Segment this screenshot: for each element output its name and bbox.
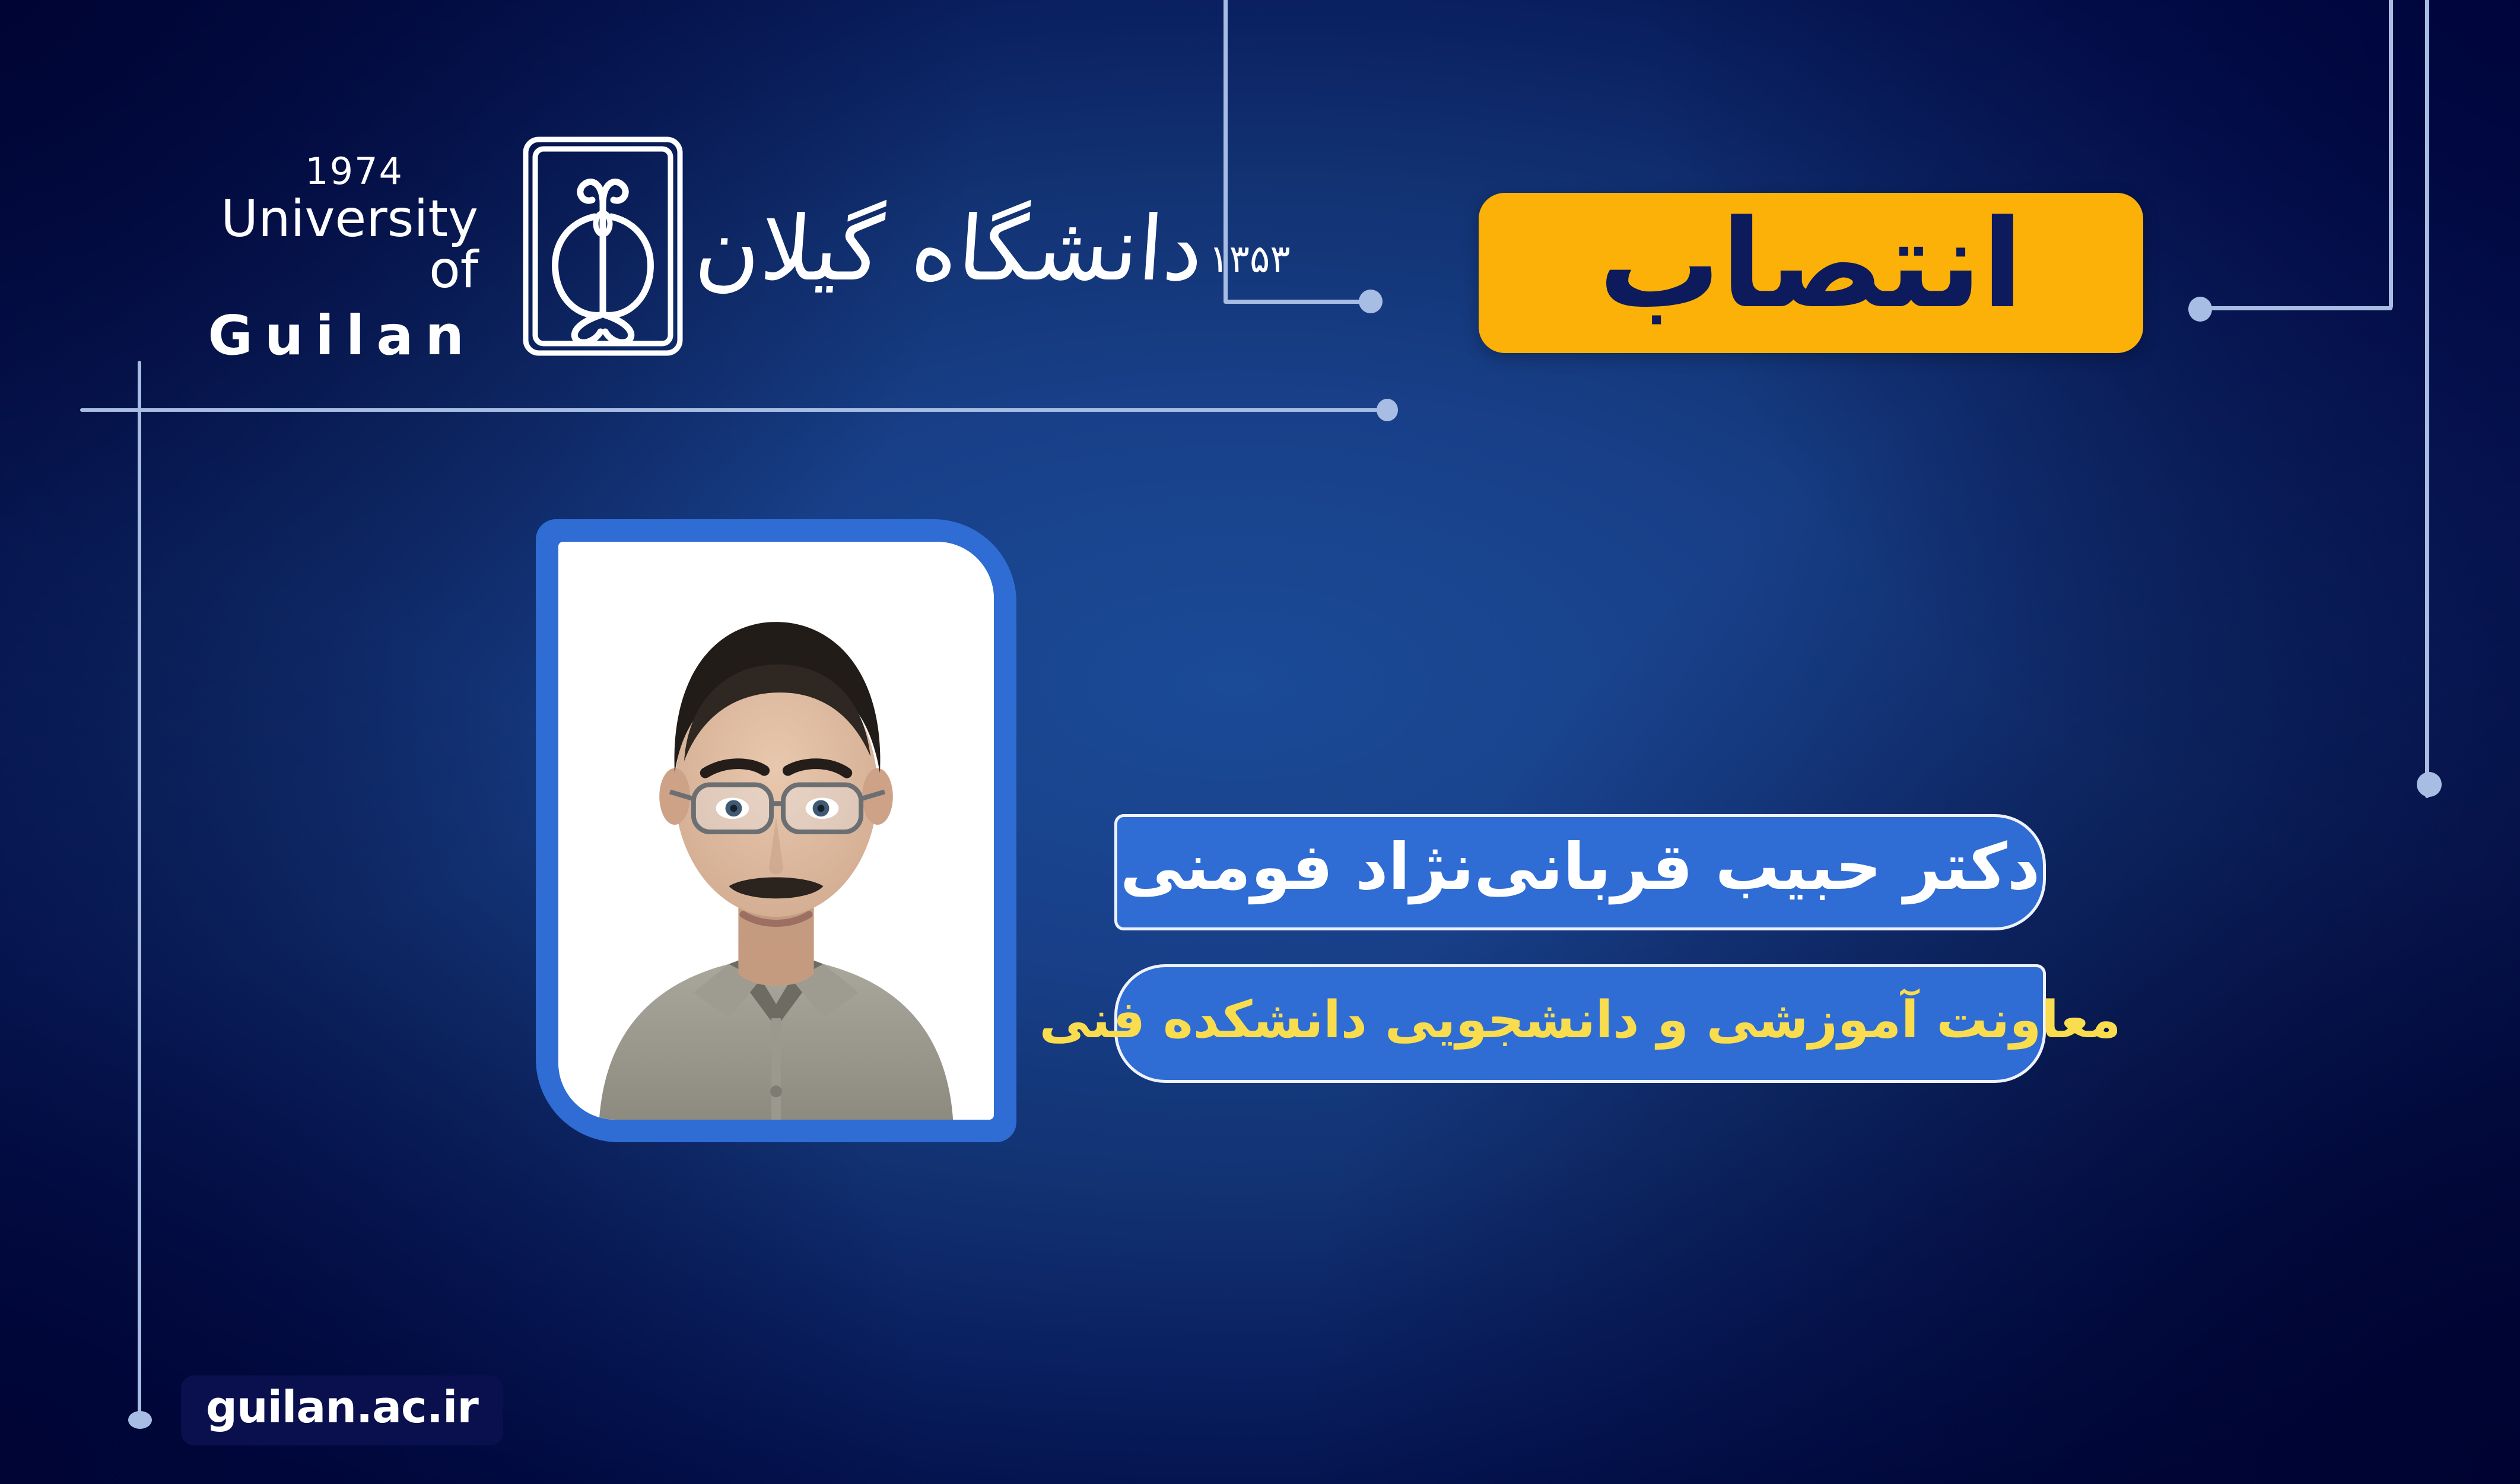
logo-persian-text: ۱۳۵۳ دانشگاه گیلان — [695, 183, 1291, 310]
deco-dot-top-left — [1359, 290, 1383, 313]
logo-founding-year-en: 1974 — [178, 153, 510, 190]
guilan-butterfly-emblem-icon — [514, 134, 692, 359]
deco-line-left-vertical — [138, 361, 141, 1420]
person-role: معاونت آموزشی و دانشجویی دانشکده فنی — [1040, 994, 2121, 1046]
deco-dot-right-upper — [2188, 297, 2212, 322]
deco-dot-right-vertical — [2417, 772, 2442, 797]
logo-university-word: University of — [178, 193, 510, 295]
deco-line-right-upper-horizontal — [2195, 306, 2392, 310]
logo-english-text: 1974 University of Guilan — [178, 129, 510, 363]
website-url: guilan.ac.ir — [206, 1386, 478, 1429]
website-pill[interactable]: guilan.ac.ir — [181, 1375, 503, 1445]
deco-dot-logo-rail — [1377, 399, 1398, 421]
logo-founding-year-fa: ۱۳۵۳ — [1209, 189, 1291, 278]
portrait-photo — [558, 542, 994, 1120]
deco-line-right-upper-vertical — [2389, 0, 2393, 309]
person-name-banner: دکتر حبیب قربانی‌نژاد فومنی — [1114, 814, 2046, 930]
logo-guilan-word: Guilan — [178, 309, 510, 363]
appointment-poster: 1974 University of Guilan — [0, 0, 2520, 1484]
headline-text: انتصاب — [1599, 204, 2023, 326]
university-logo: 1974 University of Guilan — [178, 128, 1222, 365]
headline-badge: انتصاب — [1479, 193, 2143, 353]
deco-line-right-vertical — [2425, 0, 2429, 798]
deco-line-logo-rail — [80, 408, 1391, 412]
portrait-frame — [536, 519, 1016, 1142]
logo-university-name-fa: دانشگاه گیلان — [691, 189, 1207, 310]
deco-dot-left-bottom — [128, 1411, 152, 1429]
person-role-banner: معاونت آموزشی و دانشجویی دانشکده فنی — [1114, 964, 2046, 1083]
person-name: دکتر حبیب قربانی‌نژاد فومنی — [1120, 835, 2040, 900]
